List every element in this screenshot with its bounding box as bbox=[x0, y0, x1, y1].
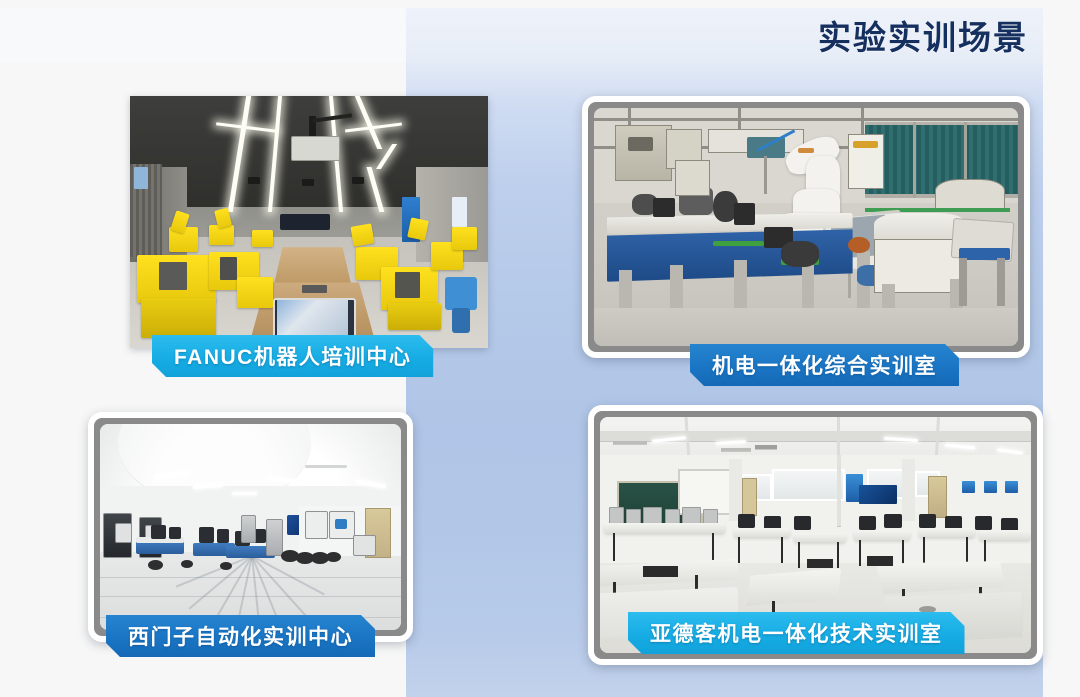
photo-siemens-automation-lab bbox=[88, 412, 413, 642]
scene-siemens bbox=[100, 424, 401, 630]
card-mechatronics[interactable]: 机电一体化综合实训室 bbox=[582, 96, 1030, 358]
photo-fanuc-robot-training-lab bbox=[130, 96, 488, 348]
caption-airtac: 亚德客机电一体化技术实训室 bbox=[628, 612, 965, 654]
photo-mechatronics-integrated-lab bbox=[582, 96, 1030, 358]
slide-root: 实验实训场景 bbox=[0, 0, 1080, 697]
caption-siemens: 西门子自动化实训中心 bbox=[106, 615, 375, 657]
caption-fanuc: FANUC机器人培训中心 bbox=[152, 335, 433, 377]
caption-mechatronics: 机电一体化综合实训室 bbox=[690, 344, 959, 386]
scene-fanuc bbox=[130, 96, 488, 348]
card-airtac[interactable]: 亚德客机电一体化技术实训室 bbox=[588, 405, 1043, 665]
scene-mechatronics bbox=[594, 108, 1018, 346]
background-title-band-left bbox=[0, 8, 406, 62]
card-fanuc[interactable]: FANUC机器人培训中心 bbox=[130, 96, 488, 348]
page-title: 实验实训场景 bbox=[818, 11, 1028, 59]
card-siemens[interactable]: 西门子自动化实训中心 bbox=[88, 412, 413, 642]
